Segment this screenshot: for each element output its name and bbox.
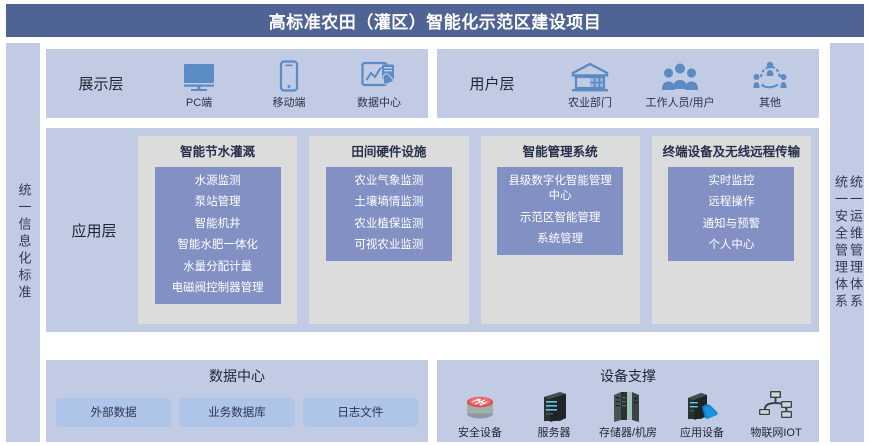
building-icon: [571, 58, 609, 92]
device-item-security[interactable]: 安全设备: [443, 387, 517, 440]
user-item-agriculture-dept-label: 农业部门: [568, 94, 612, 110]
right-rail-stack: 统一安全管理体系 统一运维管理体系: [832, 175, 862, 311]
user-layer-panel: 用户层 农业部门: [437, 49, 819, 118]
user-layer-items: 农业部门 工作人员/用户: [545, 49, 815, 118]
card-item[interactable]: 系统管理: [501, 230, 619, 250]
architecture-diagram: 高标准农田（灌区）智能化示范区建设项目 统一信息化标准 统一安全管理体系 统一运…: [0, 0, 870, 445]
data-center-panel: 数据中心 外部数据 业务数据库 日志文件: [46, 360, 428, 442]
card-terminal-transmission: 终端设备及无线远程传输 实时监控 远程操作 通知与预警 个人中心: [652, 136, 811, 324]
card-item[interactable]: 远程操作: [672, 193, 790, 213]
display-layer-label: 展示层: [46, 49, 156, 118]
application-layer-cards: 智能节水灌溉 水源监测 泵站管理 智能机井 智能水肥一体化 水量分配计量 电磁阀…: [138, 136, 811, 324]
storage-rack-icon: [610, 387, 646, 423]
card-item[interactable]: 可视农业监测: [330, 236, 448, 256]
card-field-hardware: 田间硬件设施 农业气象监测 土壤墒情监测 农业植保监测 可视农业监测: [309, 136, 468, 324]
display-layer-panel: 展示层 PC端: [46, 49, 428, 118]
card-item[interactable]: 水量分配计量: [159, 258, 277, 278]
page-title-bar: 高标准农田（灌区）智能化示范区建设项目: [6, 4, 864, 37]
user-item-other[interactable]: 其他: [725, 58, 815, 110]
tablet-chart-icon: [361, 58, 397, 92]
card-item[interactable]: 实时监控: [672, 172, 790, 192]
application-layer-panel: 应用层 智能节水灌溉 水源监测 泵站管理 智能机井 智能水肥一体化 水量分配计量…: [46, 128, 819, 332]
device-support-panel: 设备支撑 安全设备: [437, 360, 819, 442]
page-title: 高标准农田（灌区）智能化示范区建设项目: [269, 8, 602, 33]
card-item[interactable]: 泵站管理: [159, 193, 277, 213]
card-item[interactable]: 通知与预警: [672, 215, 790, 235]
card-smart-irrigation: 智能节水灌溉 水源监测 泵站管理 智能机井 智能水肥一体化 水量分配计量 电磁阀…: [138, 136, 297, 324]
device-item-server[interactable]: 服务器: [517, 387, 591, 440]
data-center-item-log-files[interactable]: 日志文件: [303, 398, 418, 427]
display-item-data-center[interactable]: 数据中心: [334, 58, 424, 110]
router-security-icon: [460, 387, 500, 423]
card-field-hardware-title: 田间硬件设施: [351, 144, 426, 161]
card-management-system: 智能管理系统 县级数字化智能管理中心 示范区智能管理 系统管理: [481, 136, 640, 324]
display-item-data-center-label: 数据中心: [357, 94, 401, 110]
device-support-items: 安全设备 服务器: [443, 386, 813, 440]
card-management-system-items: 县级数字化智能管理中心 示范区智能管理 系统管理: [497, 167, 623, 255]
people-cycle-icon: [750, 58, 790, 92]
iot-network-icon: [757, 387, 795, 423]
device-item-iot-label: 物联网IOT: [750, 424, 801, 440]
monitor-icon: [182, 58, 216, 92]
data-center-title: 数据中心: [46, 366, 428, 386]
left-rail-label: 统一信息化标准: [16, 183, 31, 302]
device-item-security-label: 安全设备: [458, 424, 502, 440]
display-item-mobile[interactable]: 移动端: [244, 58, 334, 110]
display-layer-items: PC端 移动端: [154, 49, 424, 118]
card-item[interactable]: 示范区智能管理: [501, 209, 619, 229]
device-support-title: 设备支撑: [437, 366, 819, 386]
card-smart-irrigation-title: 智能节水灌溉: [180, 144, 255, 161]
data-center-item-external[interactable]: 外部数据: [56, 398, 171, 427]
device-item-application-label: 应用设备: [680, 424, 724, 440]
application-device-icon: [683, 387, 721, 423]
display-item-pc[interactable]: PC端: [154, 58, 244, 110]
card-terminal-transmission-title: 终端设备及无线远程传输: [663, 144, 801, 161]
right-rail-label-operations: 统一运维管理体系: [847, 175, 862, 311]
data-center-item-business-db[interactable]: 业务数据库: [179, 398, 294, 427]
right-rail-management: 统一安全管理体系 统一运维管理体系: [830, 43, 864, 442]
application-layer-label: 应用层: [46, 128, 142, 332]
card-item[interactable]: 县级数字化智能管理中心: [501, 172, 619, 207]
card-item[interactable]: 农业气象监测: [330, 172, 448, 192]
card-field-hardware-items: 农业气象监测 土壤墒情监测 农业植保监测 可视农业监测: [326, 167, 452, 261]
card-item[interactable]: 水源监测: [159, 172, 277, 192]
card-item[interactable]: 智能机井: [159, 215, 277, 235]
left-rail-standards: 统一信息化标准: [6, 43, 40, 442]
card-item[interactable]: 个人中心: [672, 236, 790, 256]
device-item-storage[interactable]: 存储器/机房: [591, 387, 665, 440]
card-smart-irrigation-items: 水源监测 泵站管理 智能机井 智能水肥一体化 水量分配计量 电磁阀控制器管理: [155, 167, 281, 304]
card-item[interactable]: 农业植保监测: [330, 215, 448, 235]
user-item-agriculture-dept[interactable]: 农业部门: [545, 58, 635, 110]
card-management-system-title: 智能管理系统: [523, 144, 598, 161]
card-item[interactable]: 智能水肥一体化: [159, 236, 277, 256]
device-item-iot[interactable]: 物联网IOT: [739, 387, 813, 440]
card-item[interactable]: 电磁阀控制器管理: [159, 279, 277, 299]
device-item-application[interactable]: 应用设备: [665, 387, 739, 440]
server-tower-icon: [538, 387, 570, 423]
device-item-storage-label: 存储器/机房: [599, 424, 657, 440]
user-item-other-label: 其他: [759, 94, 781, 110]
display-item-pc-label: PC端: [186, 94, 212, 110]
device-item-server-label: 服务器: [538, 424, 571, 440]
card-terminal-transmission-items: 实时监控 远程操作 通知与预警 个人中心: [668, 167, 794, 261]
user-layer-label: 用户层: [437, 49, 547, 118]
card-item[interactable]: 土壤墒情监测: [330, 193, 448, 213]
right-rail-label-security: 统一安全管理体系: [832, 175, 847, 311]
mobile-icon: [278, 58, 300, 92]
data-center-items: 外部数据 业务数据库 日志文件: [56, 392, 418, 432]
user-item-staff-label: 工作人员/用户: [645, 94, 714, 110]
display-item-mobile-label: 移动端: [273, 94, 306, 110]
people-group-icon: [660, 58, 700, 92]
user-item-staff[interactable]: 工作人员/用户: [635, 58, 725, 110]
